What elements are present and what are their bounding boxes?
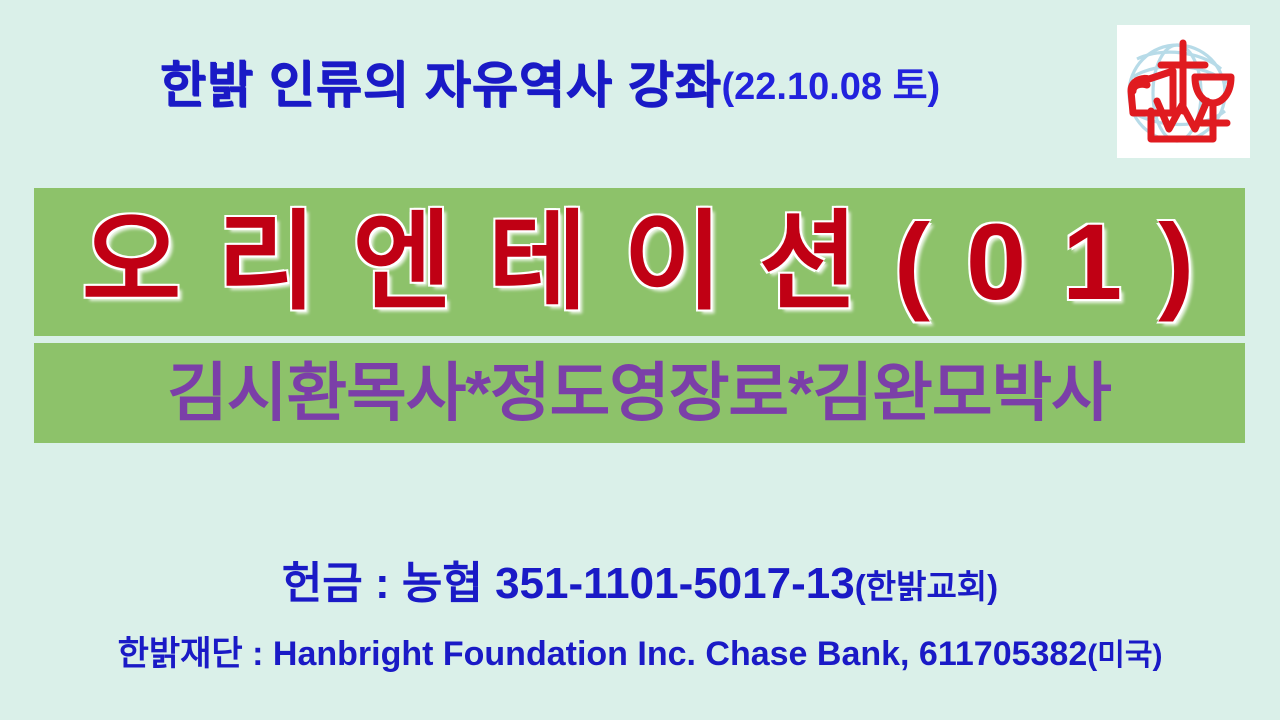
speakers-text: 김시환목사*정도영장로*김완모박사: [168, 361, 1111, 425]
donation-account-foundation: 한밝재단 : Hanbright Foundation Inc. Chase B…: [118, 635, 1088, 673]
slide-header: 한밝 인류의 자유역사 강좌(22.10.08 토): [0, 0, 1280, 175]
speakers-banner: 김시환목사*정도영장로*김완모박사: [34, 343, 1245, 443]
page-title-main: 한밝 인류의 자유역사 강좌: [160, 57, 722, 113]
donation-line-foundation: 한밝재단 : Hanbright Foundation Inc. Chase B…: [0, 637, 1280, 671]
church-emblem-logo: [1117, 25, 1250, 158]
page-title: 한밝 인류의 자유역사 강좌(22.10.08 토): [0, 60, 1100, 110]
church-emblem-icon: [1117, 25, 1250, 158]
donation-owner-domestic: (한밝교회): [855, 568, 998, 605]
main-title-banner: 오 리 엔 테 이 션 ( 0 1 ): [34, 188, 1245, 336]
page-title-date: (22.10.08 토): [721, 66, 940, 108]
main-title-text: 오 리 엔 테 이 션 ( 0 1 ): [82, 208, 1197, 316]
donation-line-domestic: 헌금 : 농협 351-1101-5017-13(한밝교회): [0, 562, 1280, 606]
donation-account-domestic: 헌금 : 농협 351-1101-5017-13: [282, 559, 855, 608]
donation-region-foundation: (미국): [1087, 639, 1162, 672]
